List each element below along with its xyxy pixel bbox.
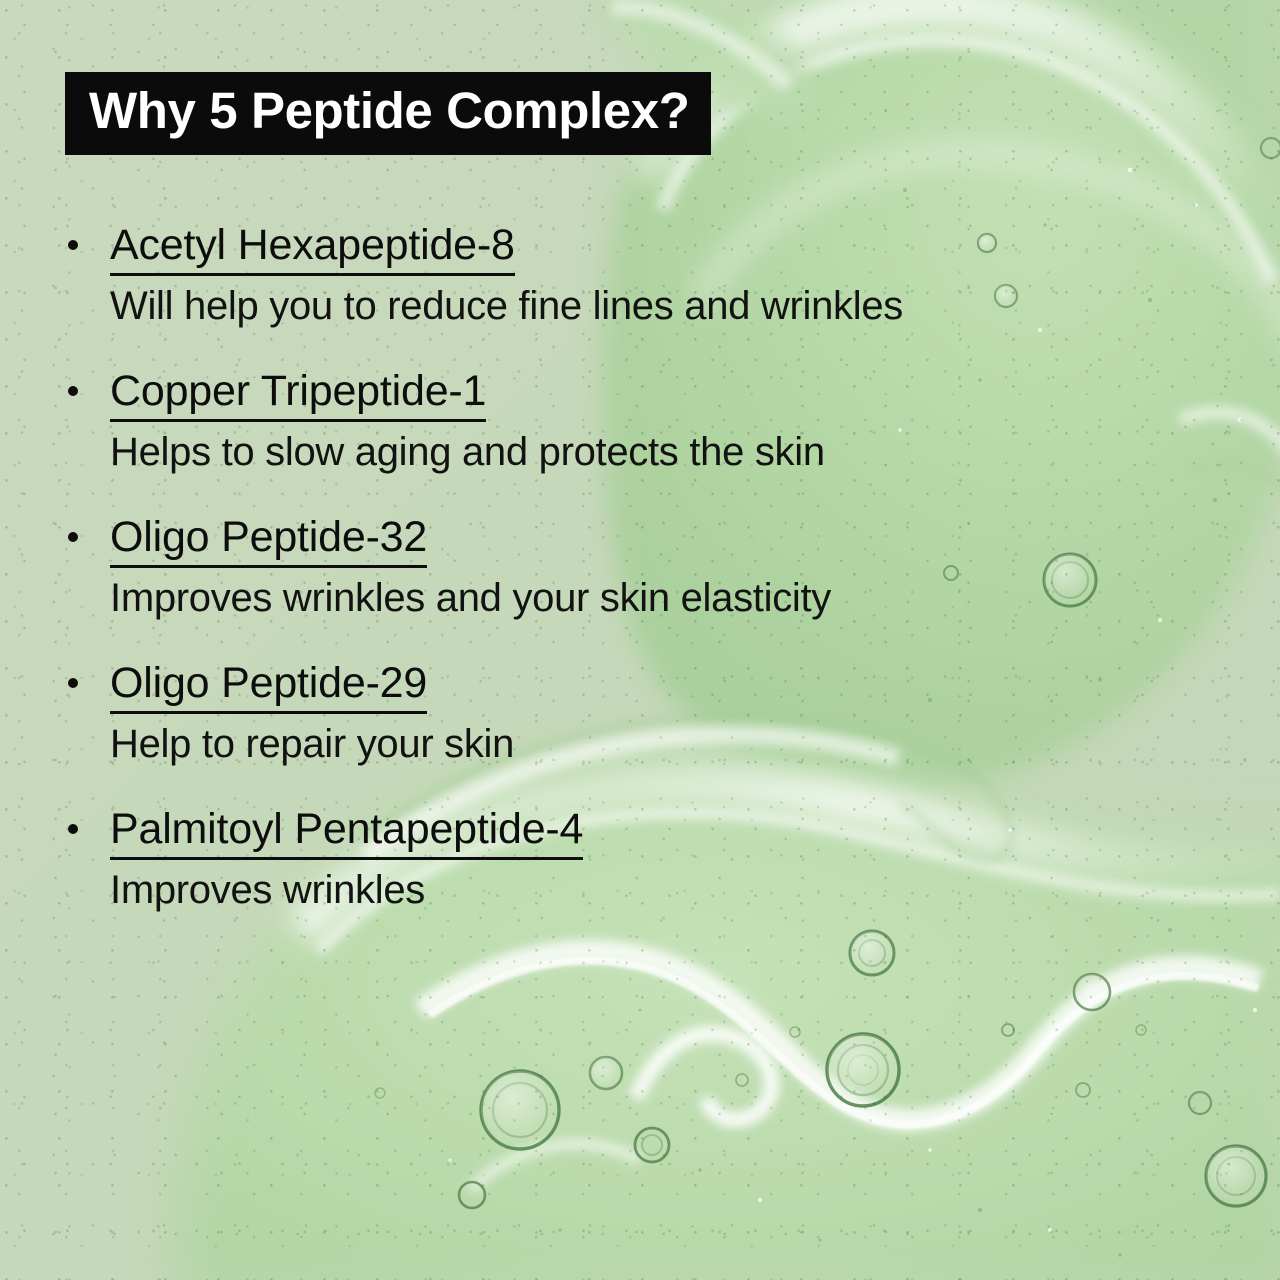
ingredient-list: Acetyl Hexapeptide-8 Will help you to re… <box>0 218 1240 915</box>
ingredient-benefit: Help to repair your skin <box>110 720 1240 769</box>
peptide-complex-poster: Why 5 Peptide Complex? Acetyl Hexapeptid… <box>0 0 1280 1280</box>
ingredient-name: Oligo Peptide-32 <box>110 510 427 568</box>
ingredient-benefit: Will help you to reduce fine lines and w… <box>110 282 1240 331</box>
bullet-dot-icon <box>68 386 78 396</box>
bullet-dot-icon <box>68 240 78 250</box>
list-item: Palmitoyl Pentapeptide-4 Improves wrinkl… <box>0 802 1240 915</box>
list-item: Acetyl Hexapeptide-8 Will help you to re… <box>0 218 1240 331</box>
ingredient-benefit: Improves wrinkles and your skin elastici… <box>110 574 1240 623</box>
list-item: Oligo Peptide-29 Help to repair your ski… <box>0 656 1240 769</box>
bullet-dot-icon <box>68 678 78 688</box>
ingredient-name: Copper Tripeptide-1 <box>110 364 486 422</box>
page-title: Why 5 Peptide Complex? <box>89 81 689 141</box>
list-item: Copper Tripeptide-1 Helps to slow aging … <box>0 364 1240 477</box>
ingredient-name: Oligo Peptide-29 <box>110 656 427 714</box>
page-title-banner: Why 5 Peptide Complex? <box>65 72 711 155</box>
gel-highlight-strand <box>420 951 1260 1190</box>
list-item: Oligo Peptide-32 Improves wrinkles and y… <box>0 510 1240 623</box>
bullet-dot-icon <box>68 824 78 834</box>
ingredient-benefit: Helps to slow aging and protects the ski… <box>110 428 1240 477</box>
ingredient-benefit: Improves wrinkles <box>110 866 1240 915</box>
ingredient-name: Acetyl Hexapeptide-8 <box>110 218 515 276</box>
bullet-dot-icon <box>68 532 78 542</box>
ingredient-name: Palmitoyl Pentapeptide-4 <box>110 802 583 860</box>
